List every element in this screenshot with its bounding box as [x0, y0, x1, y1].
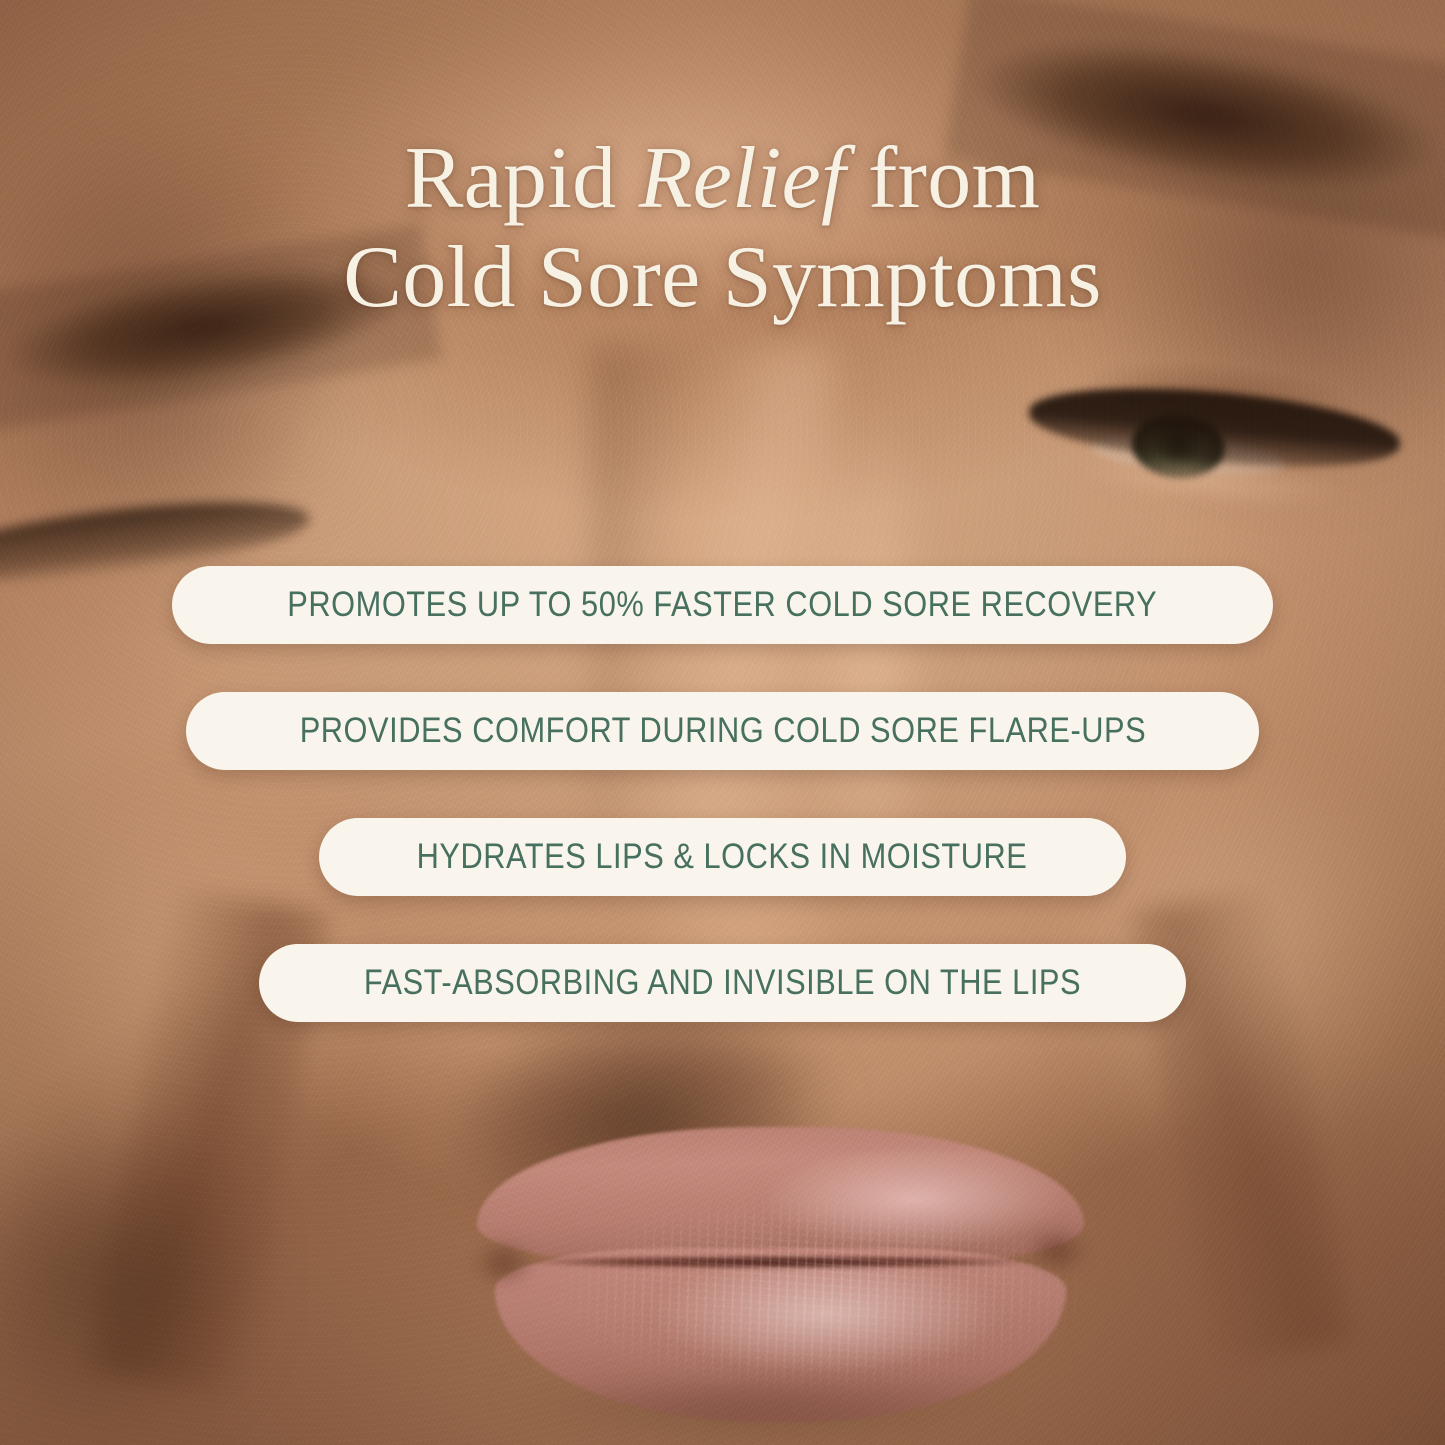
headline-emphasis-relief: Relief: [639, 130, 846, 227]
claim-text-4: FAST-ABSORBING AND INVISIBLE ON THE LIPS: [364, 963, 1081, 1003]
claim-pill-4: FAST-ABSORBING AND INVISIBLE ON THE LIPS: [259, 944, 1186, 1022]
claim-text-3: HYDRATES LIPS & LOCKS IN MOISTURE: [417, 837, 1028, 877]
headline: Rapid Relief from Cold Sore Symptoms: [0, 130, 1445, 327]
claim-text-2: PROVIDES COMFORT DURING COLD SORE FLARE-…: [299, 711, 1145, 751]
headline-line-1-prefix: Rapid: [405, 130, 639, 227]
claims-list: PROMOTES UP TO 50% FASTER COLD SORE RECO…: [0, 566, 1445, 1022]
claim-text-1: PROMOTES UP TO 50% FASTER COLD SORE RECO…: [288, 585, 1158, 625]
claim-pill-3: HYDRATES LIPS & LOCKS IN MOISTURE: [319, 818, 1125, 896]
headline-line-2: Cold Sore Symptoms: [0, 229, 1445, 328]
headline-line-1-suffix: from: [846, 130, 1041, 227]
advertisement-canvas: Rapid Relief from Cold Sore Symptoms PRO…: [0, 0, 1445, 1445]
claim-pill-2: PROVIDES COMFORT DURING COLD SORE FLARE-…: [186, 692, 1260, 770]
claim-pill-1: PROMOTES UP TO 50% FASTER COLD SORE RECO…: [172, 566, 1273, 644]
headline-line-1: Rapid Relief from: [0, 130, 1445, 229]
